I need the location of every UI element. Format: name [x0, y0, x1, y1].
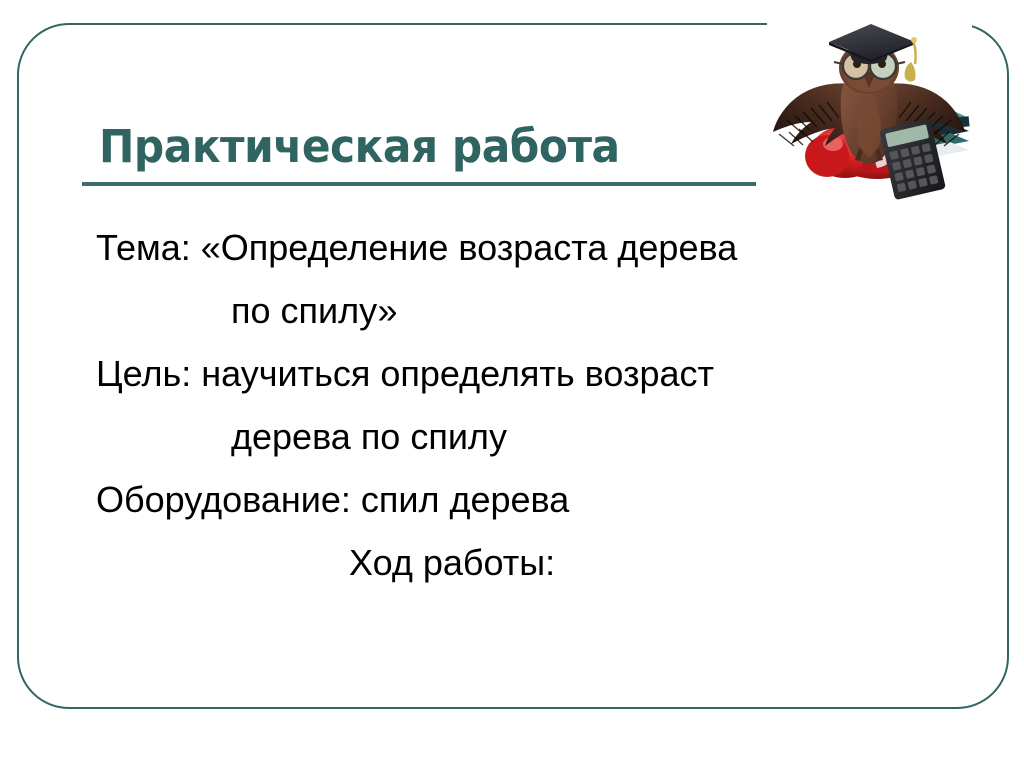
body-line-equipment: Оборудование: спил дерева	[0, 468, 1024, 531]
slide-body-text: Тема: «Определение возраста дерева по сп…	[0, 216, 1024, 594]
title-block: Практическая работа	[82, 118, 758, 176]
body-line-goal-cont: дерева по спилу	[0, 405, 1024, 468]
body-line-procedure-heading: Ход работы:	[0, 531, 1024, 594]
body-line-topic: Тема: «Определение возраста дерева	[0, 216, 1024, 279]
page-title: Практическая работа	[99, 118, 718, 176]
slide-canvas: Практическая работа Тема: «Определение в…	[0, 0, 1024, 767]
title-underline-rule	[82, 182, 756, 186]
body-line-goal: Цель: научиться определять возраст	[0, 342, 1024, 405]
graduate-owl-illustration	[767, 12, 972, 202]
body-line-topic-cont: по спилу»	[0, 279, 1024, 342]
